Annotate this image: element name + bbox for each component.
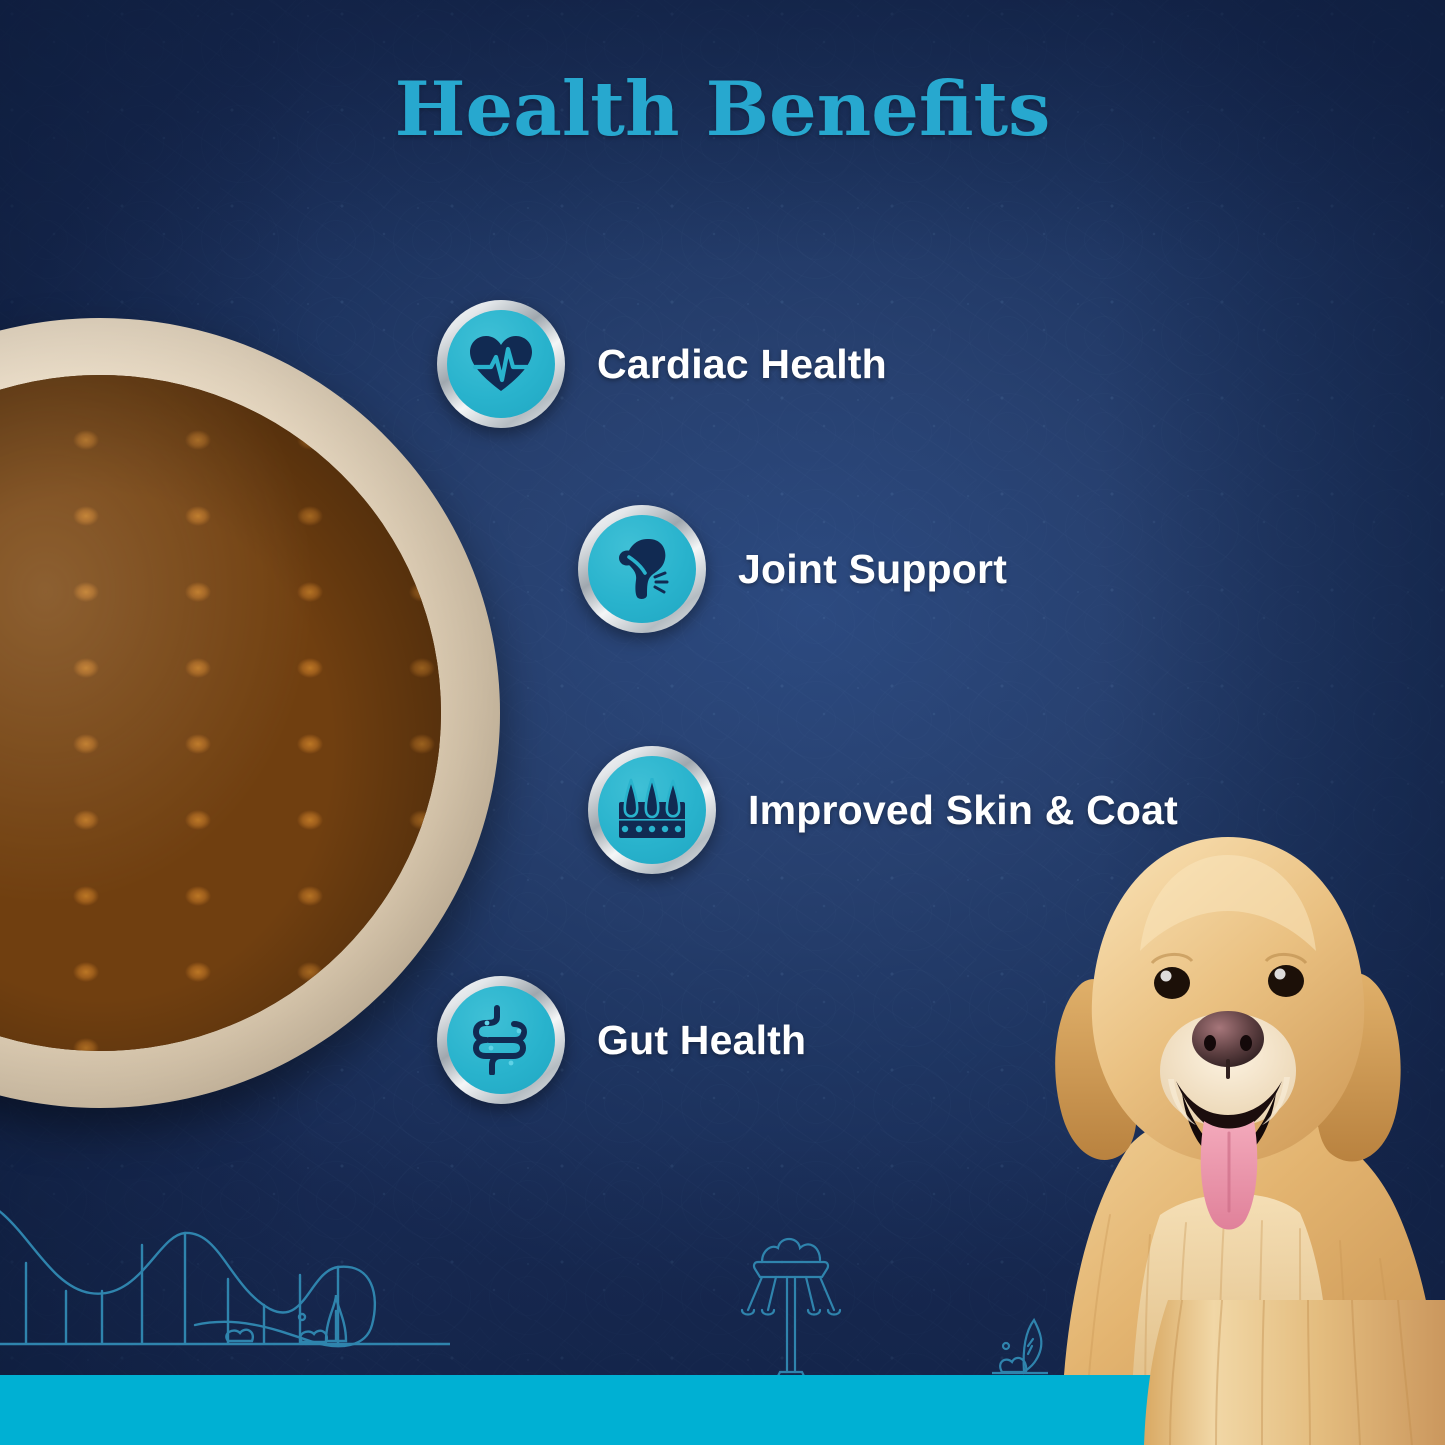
- benefit-badge: [437, 976, 565, 1104]
- benefit-badge: [578, 505, 706, 633]
- bone-joint-icon: [588, 515, 696, 623]
- benefit-item-cardiac-health[interactable]: Cardiac Health: [437, 300, 887, 428]
- benefit-label: Cardiac Health: [597, 341, 887, 388]
- bottom-accent-bar: [0, 1375, 1445, 1445]
- intestine-icon: [447, 986, 555, 1094]
- skin-follicle-icon: [598, 756, 706, 864]
- dog-food-bowl: [0, 318, 500, 1108]
- page-title: Health Benefits: [0, 72, 1445, 147]
- benefit-label: Gut Health: [597, 1017, 806, 1064]
- benefit-badge: [437, 300, 565, 428]
- benefit-badge: [588, 746, 716, 874]
- health-benefits-infographic: Health Benefits Cardiac Health: [0, 0, 1445, 1445]
- heart-pulse-icon: [447, 310, 555, 418]
- benefit-label: Joint Support: [738, 546, 1007, 593]
- kibble-shading: [0, 375, 441, 1051]
- benefit-item-gut-health[interactable]: Gut Health: [437, 976, 806, 1104]
- golden-retriever-photo: [1000, 815, 1445, 1445]
- bowl-interior: [0, 375, 441, 1051]
- benefit-item-joint-support[interactable]: Joint Support: [578, 505, 1007, 633]
